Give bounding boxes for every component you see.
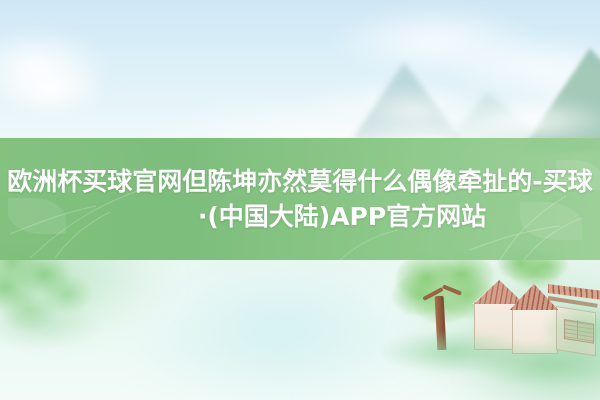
title-banner: 欧洲杯买球官网但陈坤亦然莫得什么偶像牵扯的-买球 ·(中国大陆)APP官方网站	[0, 138, 600, 260]
grass-tuft	[0, 300, 100, 350]
page-root: 欧洲杯买球官网但陈坤亦然莫得什么偶像牵扯的-买球 ·(中国大陆)APP官方网站	[0, 0, 600, 400]
page-title-line-2: ·(中国大陆)APP官方网站	[198, 200, 486, 233]
page-title-line-1: 欧洲杯买球官网但陈坤亦然莫得什么偶像牵扯的-买球	[7, 165, 592, 198]
title-text-block: 欧洲杯买球官网但陈坤亦然莫得什么偶像牵扯的-买球 ·(中国大陆)APP官方网站	[0, 138, 600, 260]
mist-icon	[355, 90, 475, 130]
